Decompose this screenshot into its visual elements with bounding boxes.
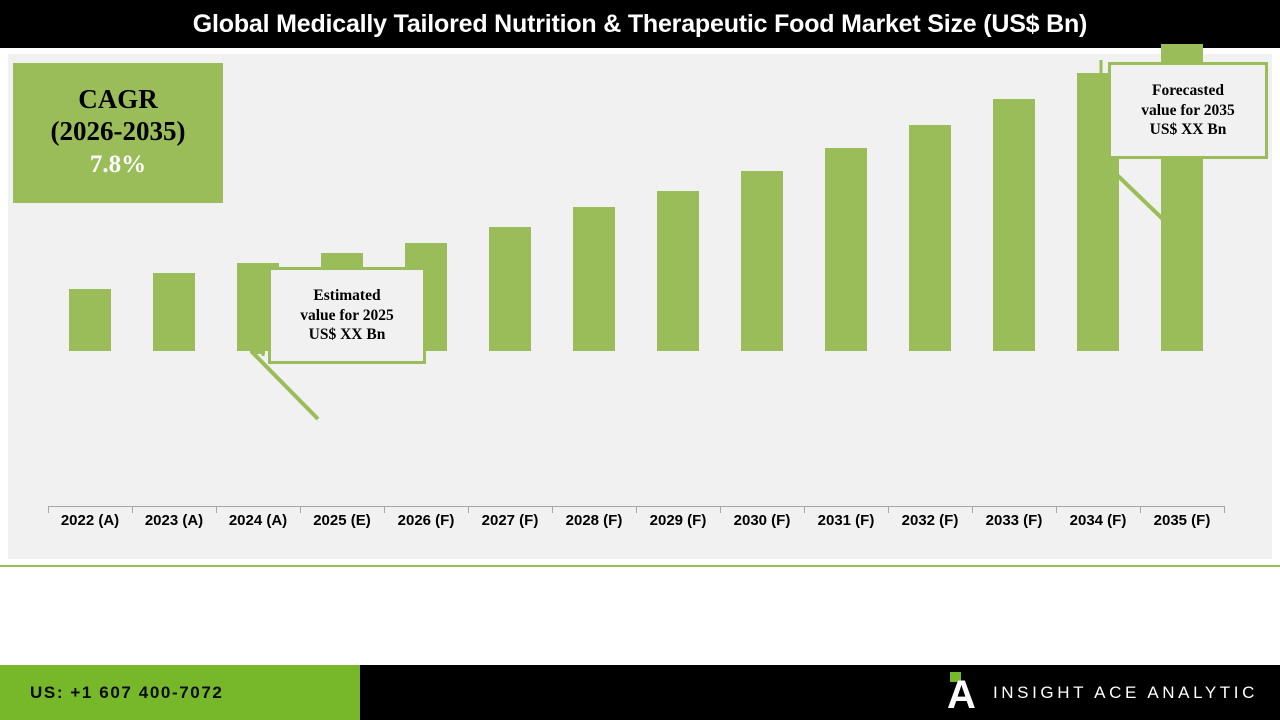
callout-2035-leader [0,0,1280,565]
insight-ace-logo-icon: A [947,672,977,714]
market-contributors-strip: Market Contributors: PERFECT DAY GELTOR … [0,565,1280,665]
callout-forecasted-line2: value for 2035 [1141,101,1235,121]
footer-phone-band: US: +1 607 400-7072 [0,665,360,720]
footer-brand-name: INSIGHT ACE ANALYTIC [993,683,1258,703]
callout-forecasted-line1: Forecasted [1152,81,1224,101]
footer-bar: US: +1 607 400-7072 A INSIGHT ACE ANALYT… [0,665,1280,720]
callout-forecasted-line3: US$ XX Bn [1150,120,1227,140]
callout-forecasted-2035: Forecasted value for 2035 US$ XX Bn [1108,62,1268,159]
logo-letter-a: A [947,680,977,714]
footer-brand: A INSIGHT ACE ANALYTIC [947,665,1258,720]
footer-phone-number[interactable]: US: +1 607 400-7072 [30,683,223,703]
